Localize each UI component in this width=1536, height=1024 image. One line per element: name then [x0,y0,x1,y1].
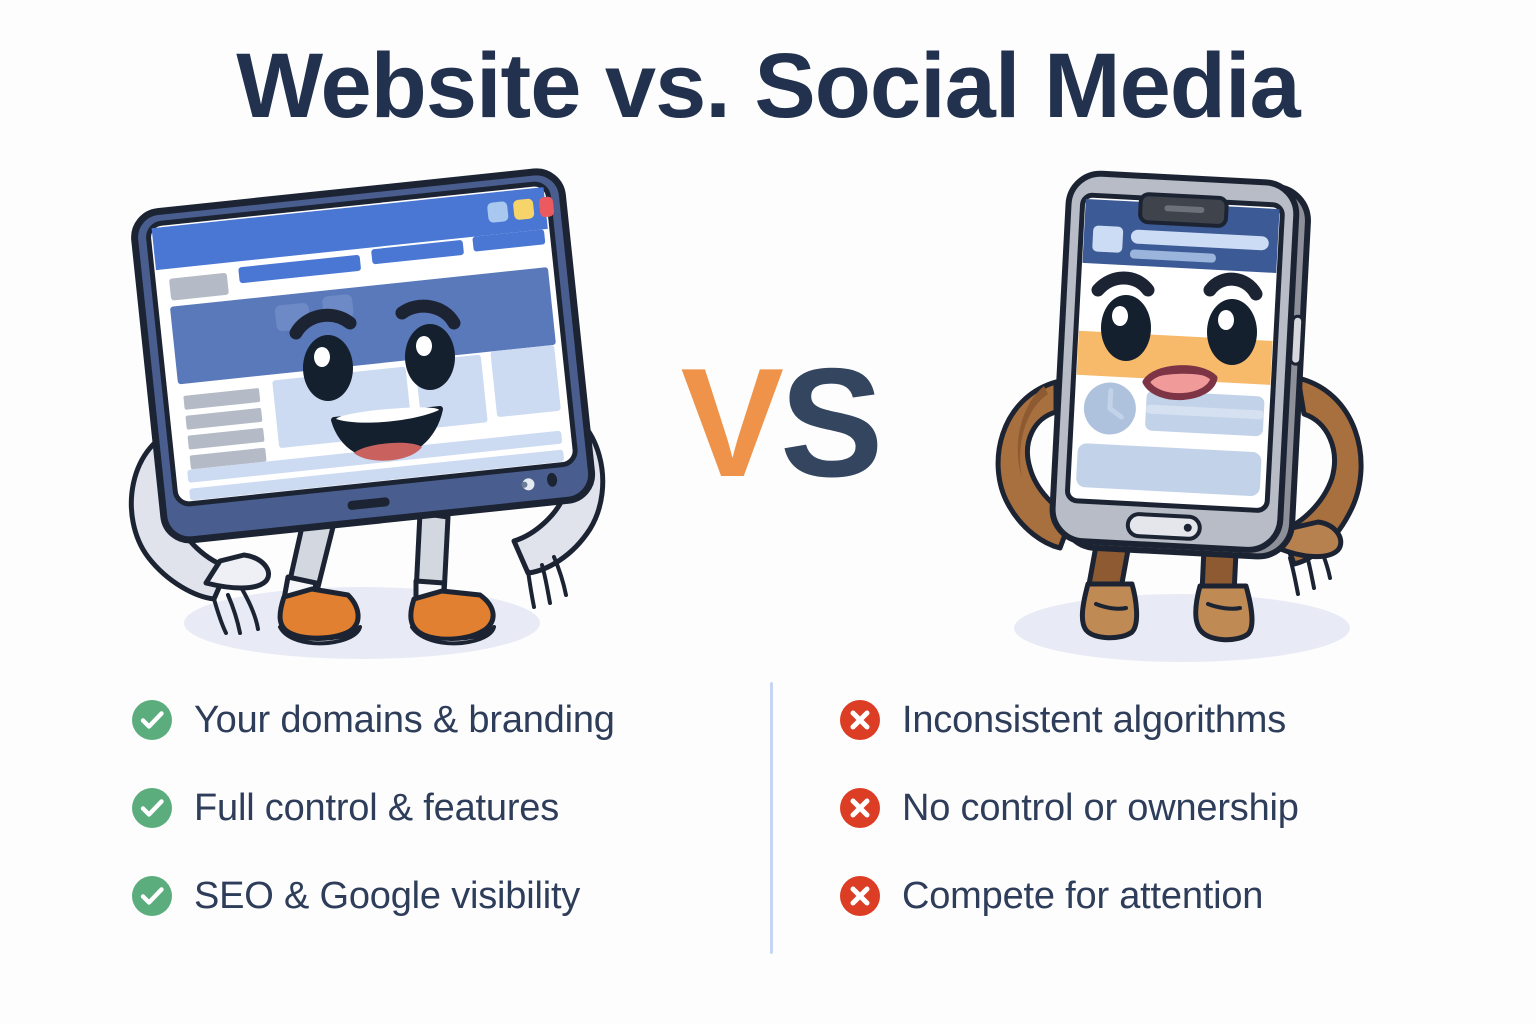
list-item-label: Inconsistent algorithms [902,699,1286,742]
page-title: Website vs. Social Media [0,36,1536,137]
left-character-monitor [132,169,594,542]
website-desktop-character [110,165,630,665]
right-boot [1196,586,1252,640]
list-item-label: Your domains & branding [194,699,615,742]
infographic-root: Website vs. Social Media [0,0,1536,1024]
list-item: Compete for attention [840,852,1440,940]
characters-stage: VS [0,165,1536,675]
social-media-phone-character [960,160,1410,665]
right-eye [1207,299,1257,365]
phone-home-button [1127,514,1200,540]
list-item: Full control & features [132,764,742,852]
list-item: Your domains & branding [132,676,742,764]
left-boot [1082,584,1136,638]
x-circle-icon [840,700,880,740]
list-item: No control or ownership [840,764,1440,852]
list-item-label: No control or ownership [902,787,1299,830]
phone-side-button [1290,316,1302,364]
versus-letter-s: S [780,336,879,509]
list-item: SEO & Google visibility [132,852,742,940]
right-eye [405,324,455,390]
versus-label: VS [660,345,900,500]
website-pros-list: Your domains & branding Full control & f… [132,676,742,940]
window-button-minimize [487,201,509,223]
check-circle-icon [132,876,172,916]
check-circle-icon [132,700,172,740]
list-item-label: SEO & Google visibility [194,875,580,918]
check-circle-icon [132,788,172,828]
right-character-shadow [1014,594,1350,662]
list-divider [770,682,773,954]
list-item: Inconsistent algorithms [840,676,1440,764]
versus-letter-v: V [681,336,780,509]
left-eye [1101,295,1151,361]
social-media-cons-list: Inconsistent algorithms No control or ow… [840,676,1440,940]
phone-avatar-block [1092,225,1123,253]
list-item-label: Full control & features [194,787,559,830]
window-button-close [539,196,555,217]
x-circle-icon [840,876,880,916]
right-character-phone [1051,172,1310,558]
window-button-maximize [513,198,535,220]
comparison-lists: Your domains & branding Full control & f… [0,676,1536,976]
list-item-label: Compete for attention [902,875,1263,918]
left-eye [303,335,353,401]
x-circle-icon [840,788,880,828]
